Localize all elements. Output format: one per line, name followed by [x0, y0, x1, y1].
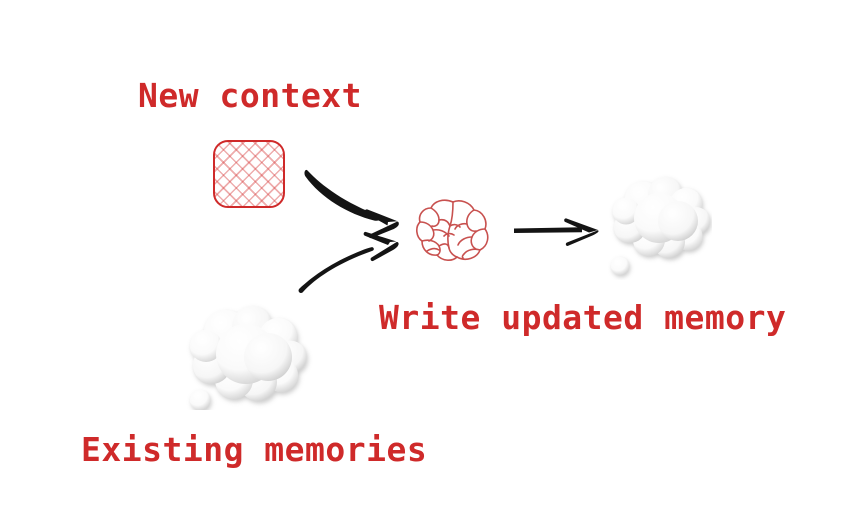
label-existing-memories: Existing memories [81, 433, 427, 466]
label-new-context: New context [138, 79, 362, 112]
diagram-canvas: New context Write updated memory Existin… [0, 0, 850, 520]
label-write-updated-memory: Write updated memory [379, 301, 786, 334]
thought-cloud-icon-existing-memories [186, 302, 314, 410]
edge-existing-memories-to-brain-icon [299, 232, 399, 293]
edge-new-context-to-brain-icon [304, 170, 398, 238]
edge-brain-to-updated-memory-icon [514, 218, 599, 246]
brain-icon [414, 196, 492, 266]
thought-cloud-icon-updated-memory [608, 174, 712, 280]
hatched-rounded-square-icon [213, 140, 285, 208]
